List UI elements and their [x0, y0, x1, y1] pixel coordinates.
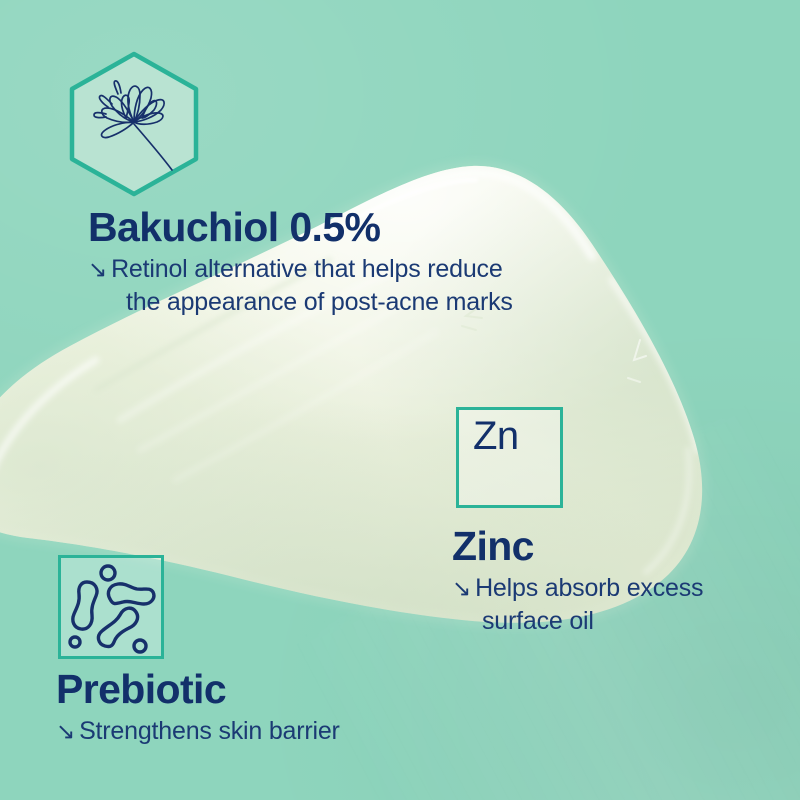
prebiotic-title: Prebiotic	[56, 668, 486, 711]
microbiome-blobs-icon	[61, 558, 161, 656]
zinc-title: Zinc	[452, 525, 782, 568]
bakuchiol-icon-tile	[68, 50, 200, 198]
ingredient-block-bakuchiol: Bakuchiol 0.5% ↘Retinol alternative that…	[88, 206, 608, 318]
ingredient-block-zinc: Zinc ↘Helps absorb excess surface oil	[452, 525, 782, 637]
arrow-icon: ↘	[56, 718, 79, 744]
zinc-description: ↘Helps absorb excess surface oil	[452, 572, 782, 637]
prebiotic-icon-tile	[58, 555, 164, 659]
prebiotic-description: ↘Strengthens skin barrier	[56, 715, 486, 748]
arrow-icon: ↘	[452, 575, 475, 601]
ingredient-block-prebiotic: Prebiotic ↘Strengthens skin barrier	[56, 668, 486, 748]
prebiotic-desc-line1: Strengthens skin barrier	[79, 717, 340, 745]
zinc-icon-tile: Zn	[456, 407, 563, 508]
zinc-symbol-icon: Zn	[473, 414, 519, 458]
zinc-desc-line1: Helps absorb excess	[475, 574, 703, 602]
bakuchiol-title: Bakuchiol 0.5%	[88, 206, 608, 249]
bakuchiol-desc-line2: the appearance of post-acne marks	[88, 286, 608, 319]
zinc-desc-line2: surface oil	[452, 605, 782, 638]
bakuchiol-desc-line1: Retinol alternative that helps reduce	[111, 255, 502, 283]
dandelion-flower-icon	[68, 50, 200, 198]
bakuchiol-description: ↘Retinol alternative that helps reduce t…	[88, 253, 608, 318]
arrow-icon: ↘	[88, 256, 111, 282]
infographic-canvas: Zn Bakuchiol 0.5% ↘Retinol alternative t…	[0, 0, 800, 800]
